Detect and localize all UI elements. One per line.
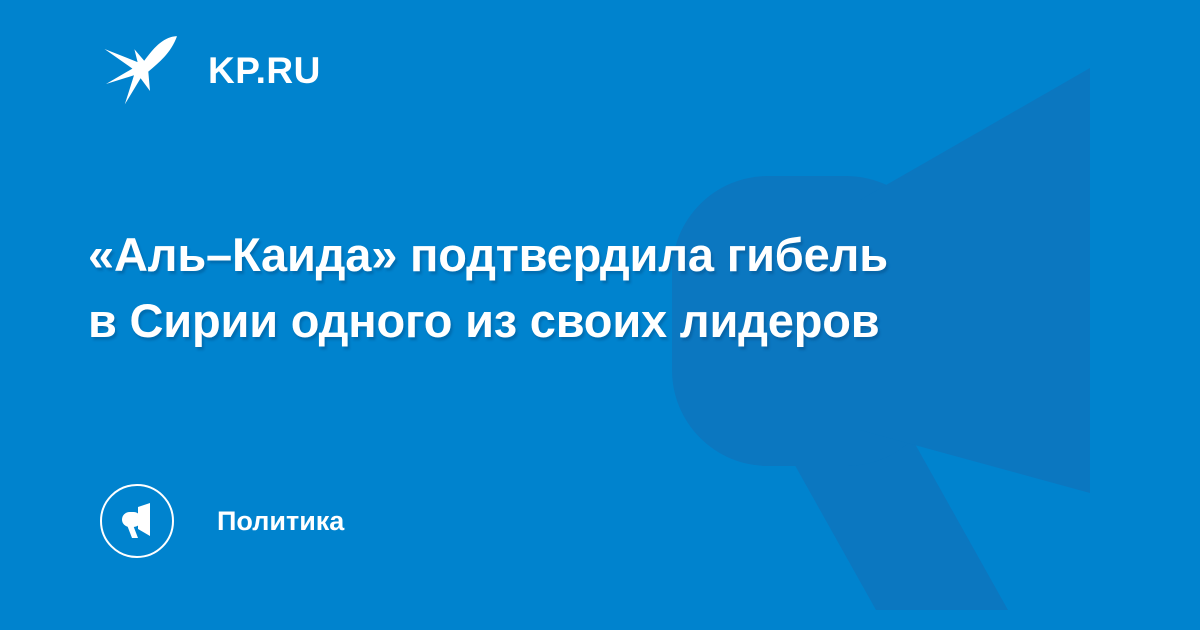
site-logo[interactable]: KP.RU xyxy=(104,34,321,106)
swallow-bird-logo-icon xyxy=(104,35,178,105)
headline: «Аль–Каида» подтвердила гибель в Сирии о… xyxy=(88,222,1088,354)
headline-line-1: «Аль–Каида» подтвердила гибель xyxy=(88,222,1088,288)
headline-line-2: в Сирии одного из своих лидеров xyxy=(88,288,1088,354)
site-wordmark: KP.RU xyxy=(208,52,321,89)
category-label: Политика xyxy=(217,508,344,535)
category-icon-circle xyxy=(100,484,174,558)
share-card: KP.RU «Аль–Каида» подтвердила гибель в С… xyxy=(0,0,1200,630)
category-badge[interactable]: Политика xyxy=(100,483,344,559)
megaphone-icon xyxy=(116,500,158,542)
